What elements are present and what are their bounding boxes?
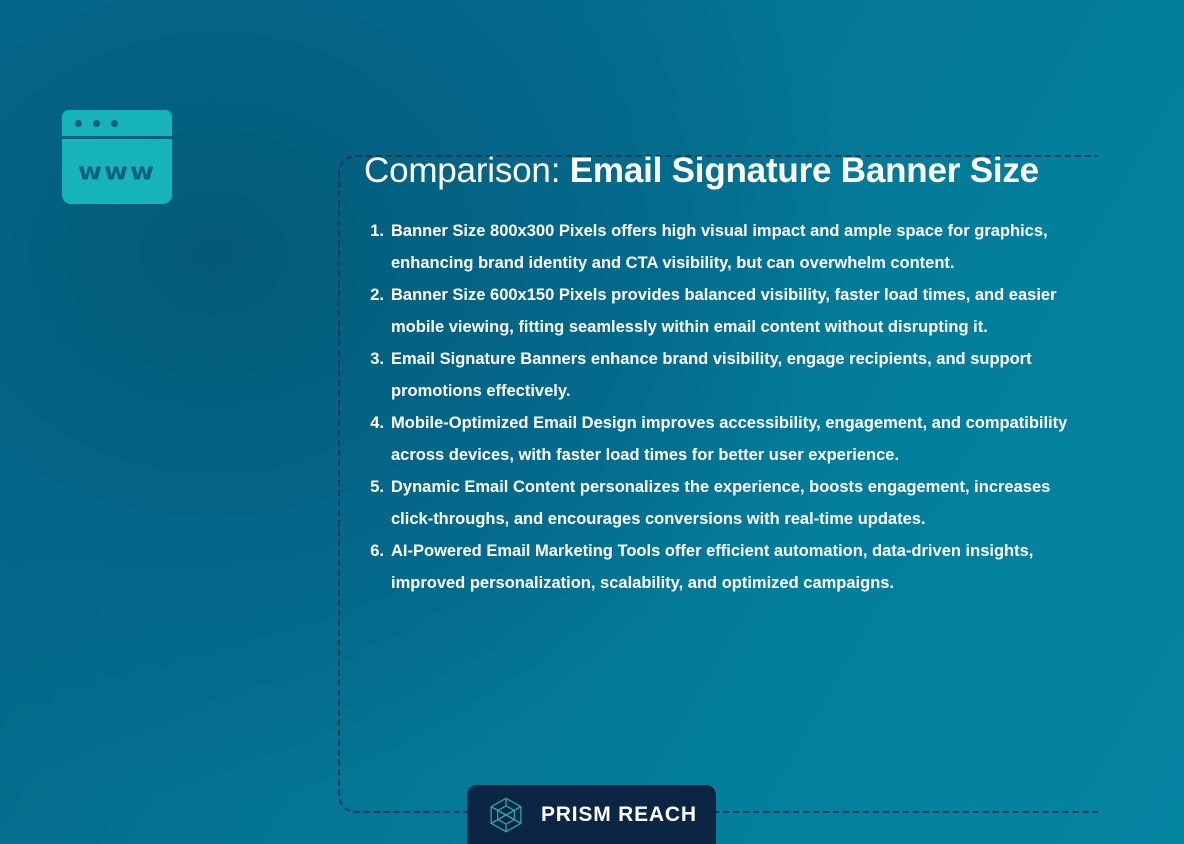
browser-dot-icon [93, 120, 100, 127]
prism-polyhedron-icon [487, 796, 525, 834]
slide-content: Comparison: Email Signature Banner Size … [364, 152, 1094, 599]
www-label: www [78, 160, 156, 184]
browser-titlebar [62, 110, 172, 136]
browser-body: www [62, 139, 172, 204]
browser-dot-icon [75, 120, 82, 127]
list-item: Banner Size 600x150 Pixels provides bala… [364, 279, 1094, 343]
comparison-list: Banner Size 800x300 Pixels offers high v… [364, 215, 1094, 599]
title-highlight: Email Signature Banner Size [570, 151, 1039, 190]
list-item: Banner Size 800x300 Pixels offers high v… [364, 215, 1094, 279]
list-item: AI-Powered Email Marketing Tools offer e… [364, 535, 1094, 599]
list-item: Mobile-Optimized Email Design improves a… [364, 407, 1094, 471]
browser-dot-icon [111, 120, 118, 127]
browser-window-icon: www [62, 110, 172, 204]
brand-name: PRISM REACH [541, 803, 697, 827]
list-item: Dynamic Email Content personalizes the e… [364, 471, 1094, 535]
list-item: Email Signature Banners enhance brand vi… [364, 343, 1094, 407]
title-prefix: Comparison: [364, 151, 570, 190]
page-title: Comparison: Email Signature Banner Size [364, 152, 1094, 189]
brand-badge: PRISM REACH [467, 785, 716, 844]
